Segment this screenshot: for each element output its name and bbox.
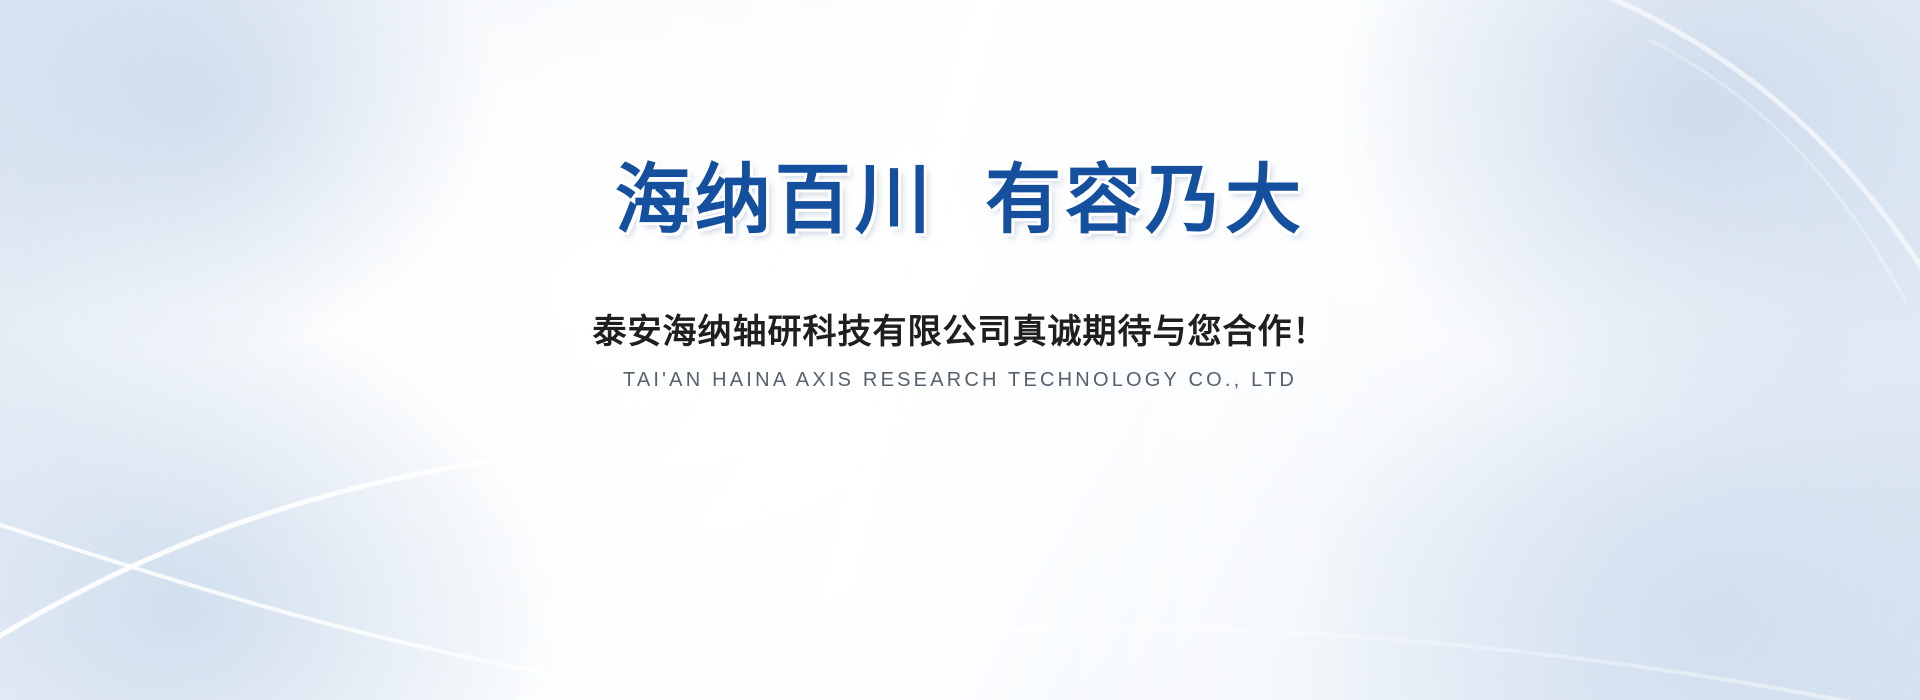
hero-banner: 海纳百川 有容乃大 泰安海纳轴研科技有限公司真诚期待与您合作！ TAI'AN H… [0, 0, 1920, 700]
banner-content: 海纳百川 有容乃大 泰安海纳轴研科技有限公司真诚期待与您合作！ TAI'AN H… [0, 0, 1920, 392]
banner-headline: 海纳百川 有容乃大 [0, 163, 1920, 239]
swoosh-bottom-left-upper [0, 444, 1180, 660]
banner-subtitle-english: TAI'AN HAINA AXIS RESEARCH TECHNOLOGY CO… [0, 368, 1920, 392]
swoosh-bottom-left-lower [0, 512, 1080, 700]
banner-subtitle-chinese: 泰安海纳轴研科技有限公司真诚期待与您合作！ [0, 311, 1920, 354]
swoosh-bottom-center [520, 628, 1920, 700]
